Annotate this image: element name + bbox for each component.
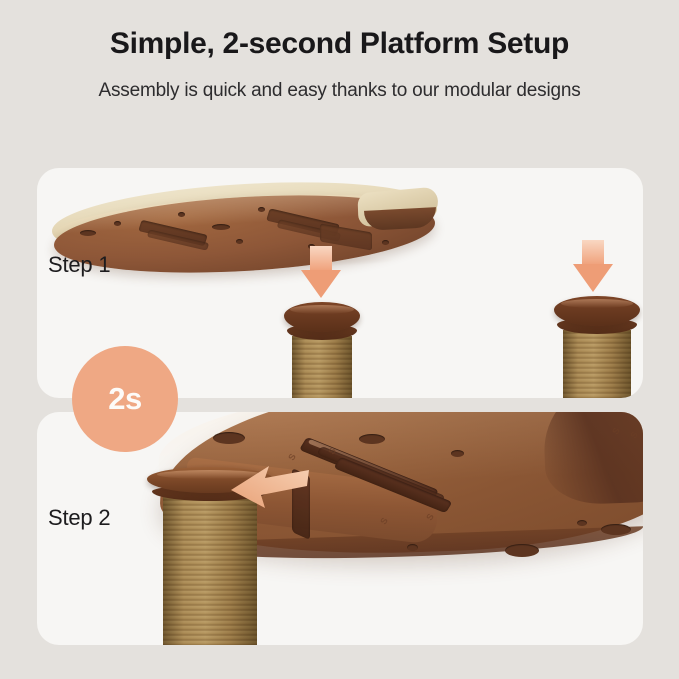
step-1-label: Step 1 — [48, 252, 110, 278]
post-rope-texture — [163, 497, 256, 645]
sisal-post-right — [554, 296, 640, 398]
screw-hole — [451, 450, 464, 457]
screw-hole — [407, 544, 418, 551]
arrow-head — [573, 264, 613, 292]
screw-hole — [114, 221, 121, 226]
page-subtitle: Assembly is quick and easy thanks to our… — [0, 80, 679, 102]
screw-hole — [258, 207, 265, 212]
arrow-head — [301, 270, 341, 298]
duration-badge-label: 2s — [108, 381, 141, 417]
screw-hole — [359, 434, 385, 444]
screw-hole — [178, 212, 185, 217]
post-rope-texture — [563, 330, 632, 398]
screw-hole — [382, 240, 389, 245]
screw-hole — [577, 520, 587, 526]
screw-hole — [213, 432, 245, 444]
step-2-label: Step 2 — [48, 505, 110, 531]
screw-hole — [505, 544, 539, 557]
down-arrow-left-icon — [301, 246, 341, 298]
screw-hole — [80, 230, 96, 236]
down-arrow-right-icon — [573, 240, 613, 292]
sisal-post-left — [284, 302, 360, 398]
screw-hole — [601, 524, 631, 535]
arrow-shaft — [582, 240, 604, 266]
slide-arrow-icon — [225, 464, 311, 518]
arrow-shaft — [310, 246, 332, 272]
promo-page: Simple, 2-second Platform Setup Assembly… — [0, 0, 679, 679]
screw-hole — [236, 239, 243, 244]
page-title: Simple, 2-second Platform Setup — [0, 27, 679, 61]
post-rope-texture — [292, 336, 353, 398]
board-shadow-region — [542, 412, 643, 506]
duration-badge: 2s — [72, 346, 178, 452]
screw-hole — [212, 224, 230, 230]
